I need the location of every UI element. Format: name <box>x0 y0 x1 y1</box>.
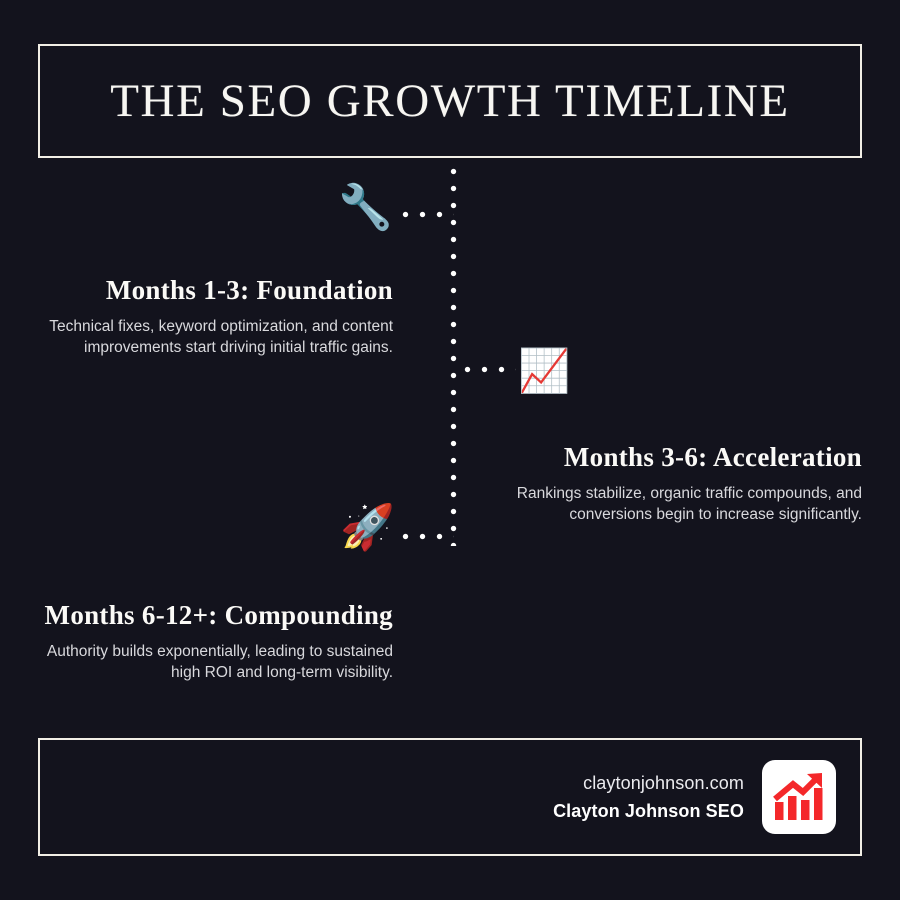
brand-logo <box>762 760 836 834</box>
timeline-spine-dotted <box>450 168 457 546</box>
connector-dots-step-2 <box>464 366 516 373</box>
website-url[interactable]: claytonjohnson.com <box>553 773 744 794</box>
connector-dots-step-3 <box>402 533 454 540</box>
page-title: THE SEO GROWTH TIMELINE <box>110 78 789 125</box>
header-box: THE SEO GROWTH TIMELINE <box>38 44 862 158</box>
step-1-heading: Months 1-3: Foundation <box>48 276 393 306</box>
timeline-step-2: Months 3-6: Acceleration Rankings stabil… <box>512 443 862 525</box>
step-2-heading: Months 3-6: Acceleration <box>512 443 862 473</box>
infographic-canvas: THE SEO GROWTH TIMELINE 🔧 📈 🚀 Months 1-3… <box>0 0 900 900</box>
wrench-icon: 🔧 <box>338 186 393 230</box>
timeline-step-1: Months 1-3: Foundation Technical fixes, … <box>48 276 393 358</box>
growth-bar-chart-icon <box>772 771 826 823</box>
footer-box: claytonjohnson.com Clayton Johnson SEO <box>38 738 862 856</box>
footer-text-group: claytonjohnson.com Clayton Johnson SEO <box>553 773 744 822</box>
step-2-body: Rankings stabilize, organic traffic comp… <box>512 483 862 526</box>
step-3-body: Authority builds exponentially, leading … <box>40 641 393 684</box>
timeline-step-3: Months 6-12+: Compounding Authority buil… <box>40 601 393 683</box>
chart-increasing-icon: 📈 <box>518 350 570 392</box>
step-3-heading: Months 6-12+: Compounding <box>40 601 393 631</box>
connector-dots-step-1 <box>402 211 454 218</box>
rocket-icon: 🚀 <box>340 506 395 550</box>
step-1-body: Technical fixes, keyword optimization, a… <box>48 316 393 359</box>
brand-name: Clayton Johnson SEO <box>553 801 744 822</box>
footer-content: claytonjohnson.com Clayton Johnson SEO <box>553 740 836 854</box>
